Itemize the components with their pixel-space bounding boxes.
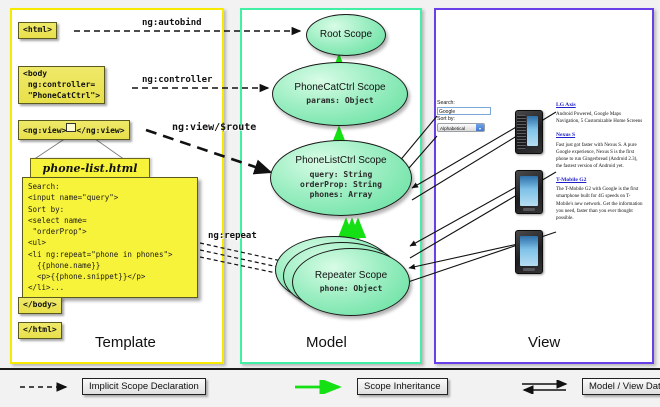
scope-phonecatctrl-props: params: Object xyxy=(306,96,373,106)
legend-label: Model / View Data-binding xyxy=(582,378,660,395)
sort-select[interactable]: Alphabetical▾ xyxy=(437,123,485,132)
list-item[interactable]: LG Axis Android Powered, Google Maps Nav… xyxy=(556,102,644,125)
scope-root: Root Scope xyxy=(306,14,386,56)
diagram-canvas: <html> <body ng:controller= "PhoneCatCtr… xyxy=(0,0,660,405)
label-ng-view-route: ng:view/$route xyxy=(172,122,256,133)
column-label-template: Template xyxy=(95,334,156,351)
tag-html-open: <html> xyxy=(18,22,57,39)
label-ng-repeat: ng:repeat xyxy=(208,231,257,241)
green-arrow-icon xyxy=(293,380,351,394)
scope-phonelistctrl: PhoneListCtrl Scope query: String orderP… xyxy=(270,140,412,216)
tag-ng-view-close: </ng:view> xyxy=(76,126,124,135)
view-search-form: Search: Google Sort by: Alphabetical▾ xyxy=(437,100,497,132)
scope-phonelistctrl-props: query: String orderProp: String phones: … xyxy=(300,170,382,201)
list-item[interactable]: T-Mobile G2 The T-Mobile G2 with Google … xyxy=(556,177,644,222)
phone-snippet: Fast just got faster with Nexus S. A pur… xyxy=(556,142,644,170)
tag-ng-view: <ng:view></ng:view> xyxy=(18,120,130,140)
tag-body-open: <body ng:controller= "PhoneCatCtrl"> xyxy=(18,66,105,104)
phone-snippet: Android Powered, Google Maps Navigation,… xyxy=(556,111,644,125)
phone-name-link[interactable]: LG Axis xyxy=(556,102,644,109)
phone-home-bar xyxy=(523,268,535,271)
label-ng-autobind: ng:autobind xyxy=(142,18,202,28)
callout-code: Search: <input name="query"> Sort by: <s… xyxy=(22,177,198,298)
legend-label: Scope Inheritance xyxy=(357,378,448,395)
phone-name-link[interactable]: T-Mobile G2 xyxy=(556,177,644,184)
scope-repeater-props: phone: Object xyxy=(320,284,383,294)
legend-item-scope-inheritance: Scope Inheritance xyxy=(293,378,448,395)
phone-thumbnail-t-mobile-g2 xyxy=(515,230,543,274)
chevron-down-icon: ▾ xyxy=(476,124,484,131)
scope-phonecatctrl: PhoneCatCtrl Scope params: Object xyxy=(272,62,408,126)
phone-thumbnail-lg-axis xyxy=(515,110,543,154)
legend-item-implicit-scope-declaration: Implicit Scope Declaration xyxy=(18,378,206,395)
ng-view-placeholder-box xyxy=(66,123,76,132)
legend: Implicit Scope Declaration Scope Inherit… xyxy=(0,368,660,407)
tag-body-close: </body> xyxy=(18,297,62,314)
phone-home-bar xyxy=(523,208,535,211)
search-input[interactable]: Google xyxy=(437,107,491,115)
scope-repeater-name: Repeater Scope xyxy=(315,270,387,282)
legend-label: Implicit Scope Declaration xyxy=(82,378,206,395)
phone-name-link[interactable]: Nexus S xyxy=(556,132,644,139)
tag-ng-view-open: <ng:view> xyxy=(23,126,66,135)
phone-thumbnail-nexus-s xyxy=(515,170,543,214)
phone-screen xyxy=(520,176,538,206)
scope-phonecatctrl-name: PhoneCatCtrl Scope xyxy=(294,82,385,94)
scope-root-name: Root Scope xyxy=(320,29,372,41)
column-label-model: Model xyxy=(306,334,347,351)
phone-screen xyxy=(520,236,538,266)
callout-phone-list-html: phone-list.html Search: <input name="que… xyxy=(22,158,198,298)
sort-label: Sort by: xyxy=(437,116,497,123)
callout-title: phone-list.html xyxy=(30,158,150,177)
label-ng-controller: ng:controller xyxy=(142,75,212,85)
phone-keyboard xyxy=(517,115,526,149)
list-item[interactable]: Nexus S Fast just got faster with Nexus … xyxy=(556,132,644,170)
phone-screen xyxy=(527,116,538,146)
tag-html-close: </html> xyxy=(18,322,62,339)
dashed-arrow-icon xyxy=(18,380,76,394)
scope-repeater: Repeater Scope phone: Object xyxy=(292,248,410,316)
column-label-view: View xyxy=(528,334,560,351)
phone-snippet: The T-Mobile G2 with Google is the first… xyxy=(556,186,644,221)
scope-phonelistctrl-name: PhoneListCtrl Scope xyxy=(295,155,386,167)
view-phone-list: LG Axis Android Powered, Google Maps Nav… xyxy=(556,102,644,229)
double-arrow-icon xyxy=(518,380,576,394)
legend-item-model-view-data-binding: Model / View Data-binding xyxy=(518,378,660,395)
sort-select-value: Alphabetical xyxy=(440,126,465,131)
